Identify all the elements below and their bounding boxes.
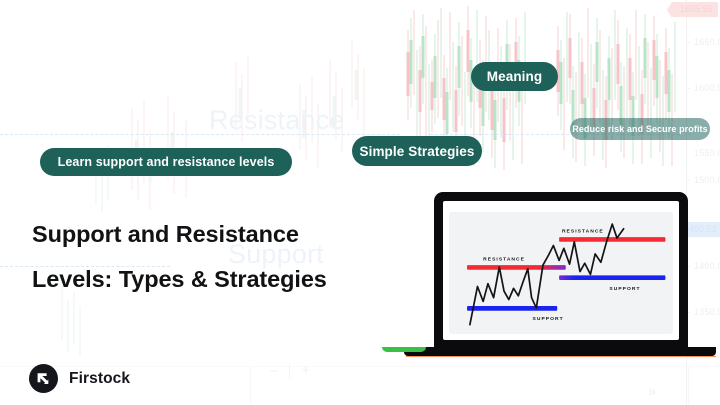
chart-canvas: RESISTANCE SUPPORT RESISTANCE SUPPORT	[449, 212, 673, 334]
vertical-rule-left	[250, 366, 251, 405]
label-support-lower: SUPPORT	[533, 316, 564, 322]
price-axis-label-1550: 1550.00	[694, 148, 720, 158]
vertical-rule-right	[688, 366, 689, 405]
pill-label: Learn support and resistance levels	[58, 155, 275, 169]
pill-simple-strategies[interactable]: Simple Strategies	[352, 136, 482, 166]
laptop-lid: RESISTANCE SUPPORT RESISTANCE SUPPORT	[434, 192, 688, 350]
brand-name: Firstock	[69, 370, 130, 388]
level-support-lower	[467, 306, 557, 311]
watermark-resistance: Resistance	[209, 105, 345, 136]
divider	[289, 363, 290, 379]
arrow-glyph	[35, 370, 52, 387]
headline-line-1: Support and Resistance	[32, 221, 299, 247]
pill-learn-support-and-resistance-levels[interactable]: Learn support and resistance levels	[40, 148, 292, 176]
price-axis-label-1600: 1600.00	[694, 83, 720, 93]
label-resistance-upper: RESISTANCE	[562, 229, 604, 235]
chevron-right-double-icon[interactable]: »	[648, 383, 656, 400]
headline-line-2: Levels: Types & Strategies	[32, 257, 432, 302]
pill-label: Simple Strategies	[360, 144, 475, 159]
price-badge-last: 1665.95	[672, 2, 718, 17]
price-axis-label-1400: 1400.00	[694, 261, 720, 271]
laptop-base	[404, 347, 716, 356]
firstock-arrow-icon	[29, 364, 58, 393]
pill-label: Meaning	[487, 69, 542, 84]
zoom-out-icon[interactable]: –	[270, 362, 278, 379]
price-tick	[686, 42, 690, 43]
price-tick	[686, 88, 690, 89]
social-card: 1650.00 1600.00 1550.00 1500.00 1400.00 …	[0, 0, 720, 405]
zoom-in-icon[interactable]: +	[301, 362, 310, 379]
brand-logo[interactable]: Firstock	[29, 364, 130, 393]
level-resistance-lower	[467, 265, 566, 270]
laptop-trackpad-notch	[382, 347, 426, 352]
level-support-upper	[559, 275, 665, 280]
pill-label: Reduce risk and Secure profits	[572, 124, 708, 134]
price-axis-label-1500: 1500.00	[694, 175, 720, 185]
price-axis-label-1650: 1650.00	[694, 37, 720, 47]
price-axis-label-1350: 1350.00	[694, 307, 720, 317]
laptop-screen: RESISTANCE SUPPORT RESISTANCE SUPPORT	[443, 201, 679, 340]
label-support-upper: SUPPORT	[609, 286, 640, 292]
page-title: Support and Resistance Levels: Types & S…	[32, 212, 432, 302]
zoom-controls: – +	[270, 362, 310, 379]
pill-meaning[interactable]: Meaning	[471, 62, 558, 91]
label-resistance-lower: RESISTANCE	[483, 256, 525, 262]
pill-reduce-risk-and-secure-profits[interactable]: Reduce risk and Secure profits	[570, 118, 710, 140]
laptop-accent-line	[406, 356, 716, 357]
price-tick	[686, 180, 690, 181]
support-resistance-chart: RESISTANCE SUPPORT RESISTANCE SUPPORT	[449, 212, 673, 334]
level-resistance-upper	[559, 237, 665, 242]
